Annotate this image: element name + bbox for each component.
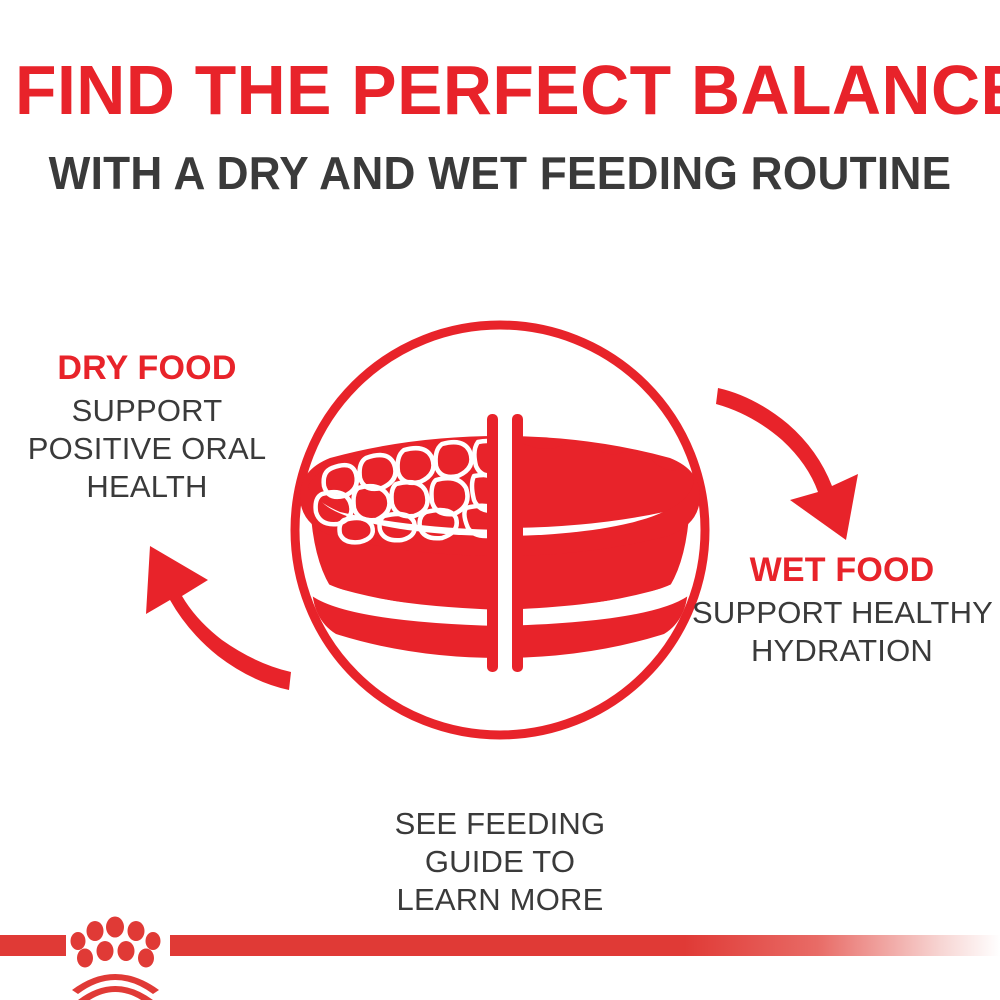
dry-food-line-3: HEALTH [12, 468, 282, 506]
red-rule-bar-right [170, 935, 1000, 956]
dry-food-label: DRY FOOD SUPPORT POSITIVE ORAL HEALTH [12, 348, 282, 506]
page-title: FIND THE PERFECT BALANCE [15, 52, 985, 128]
caption-line-2: GUIDE TO [0, 843, 1000, 881]
dry-food-title: DRY FOOD [12, 348, 282, 388]
pet-food-bowl-icon [300, 436, 700, 658]
feeding-guide-caption: SEE FEEDING GUIDE TO LEARN MORE [0, 805, 1000, 919]
caption-line-1: SEE FEEDING [0, 805, 1000, 843]
red-rule-bar-left [0, 935, 66, 956]
dry-food-line-1: SUPPORT [12, 392, 282, 430]
page-subtitle: WITH A DRY AND WET FEEDING ROUTINE [20, 146, 980, 200]
wet-food-line-2: HYDRATION [692, 632, 992, 670]
wet-food-line-1: SUPPORT HEALTHY [692, 594, 992, 632]
royal-canin-crown-icon [71, 917, 161, 1000]
curved-arrow-down-right-icon [716, 388, 858, 540]
wet-food-label: WET FOOD SUPPORT HEALTHY HYDRATION [692, 550, 992, 670]
footer [0, 914, 1000, 1000]
infographic-page: FIND THE PERFECT BALANCE WITH A DRY AND … [0, 0, 1000, 1000]
wet-food-mound-icon [500, 442, 694, 528]
header-block: FIND THE PERFECT BALANCE WITH A DRY AND … [0, 52, 1000, 200]
dry-kibble-icon [308, 440, 500, 542]
dry-food-line-2: POSITIVE ORAL [12, 430, 282, 468]
vertical-divider-icon [487, 410, 523, 676]
curved-arrow-up-left-icon [146, 546, 291, 690]
circle-outline-icon [295, 325, 705, 735]
wet-food-title: WET FOOD [692, 550, 992, 590]
